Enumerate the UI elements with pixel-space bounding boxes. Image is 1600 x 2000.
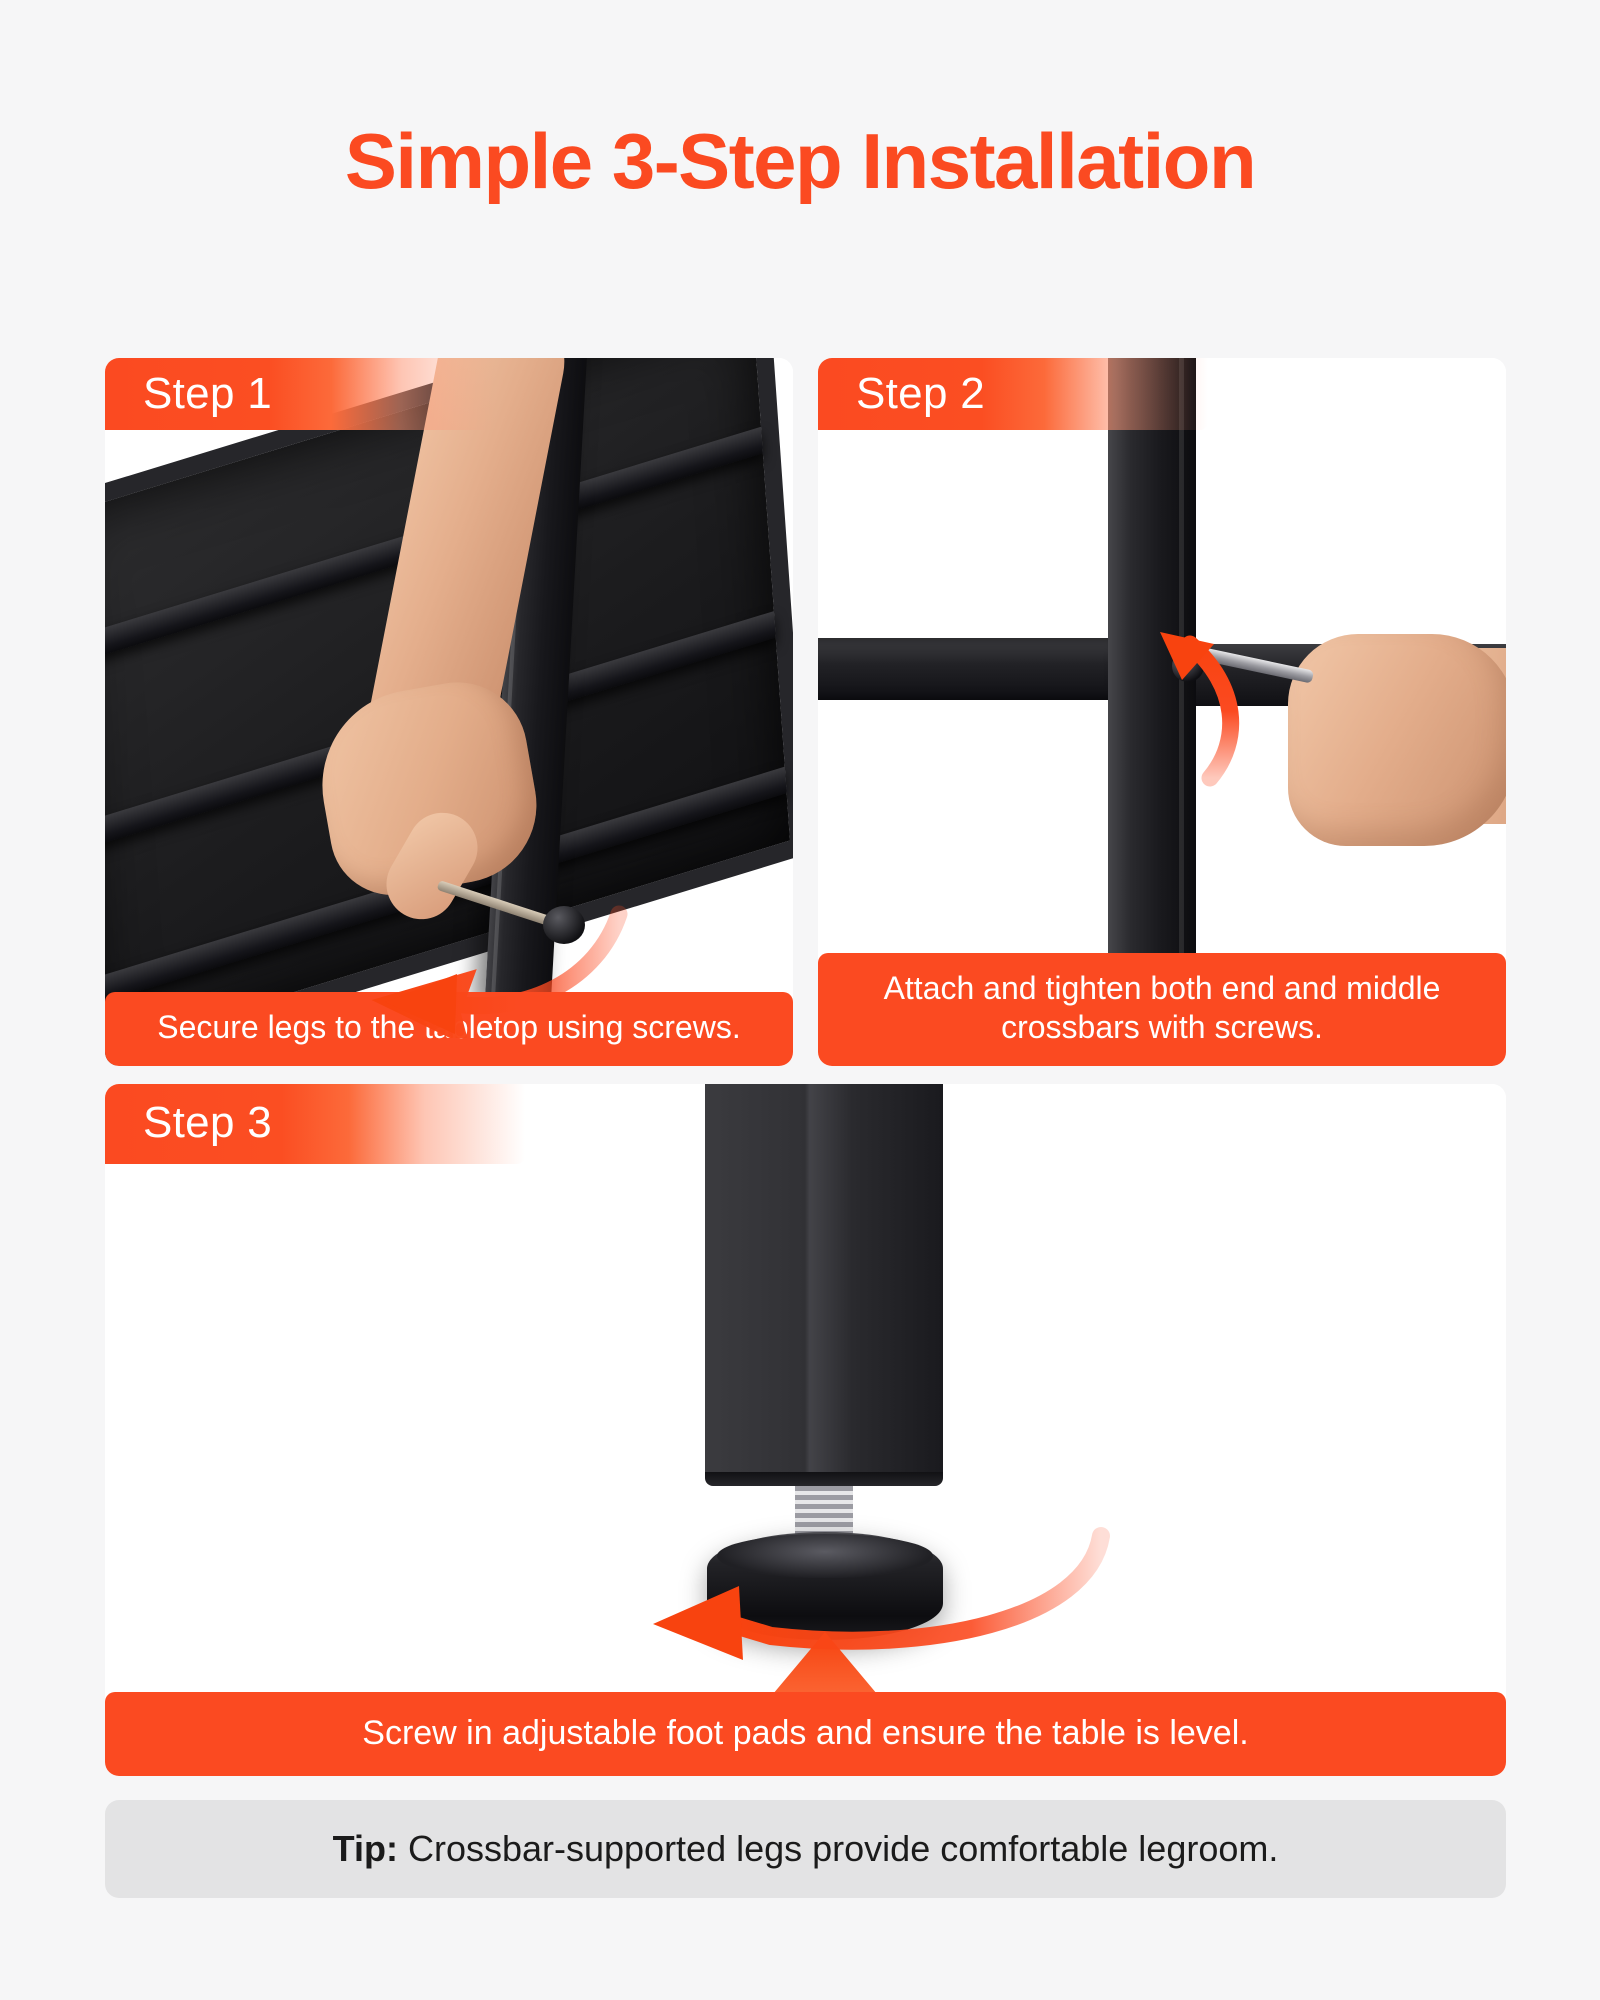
step-2-badge: Step 2: [818, 358, 1208, 430]
rotation-arrow-icon: [1118, 570, 1268, 790]
tip-label: Tip:: [333, 1828, 398, 1869]
step-3-badge: Step 3: [105, 1084, 525, 1164]
step-1-badge-label: Step 1: [143, 369, 272, 419]
step-3-photo: [105, 1084, 1506, 1776]
step-1-photo: [105, 358, 793, 1066]
step-2-caption: Attach and tighten both end and middle c…: [818, 953, 1506, 1066]
rotation-arrow-icon: [351, 878, 631, 1038]
step-1-badge: Step 1: [105, 358, 495, 430]
step-card-2: Step 2 Attach and tighten both end and m…: [818, 358, 1506, 1066]
tip-text: Tip: Crossbar-supported legs provide com…: [333, 1828, 1279, 1870]
tabletop-frame-illustration: [105, 358, 793, 1066]
hand: [1288, 634, 1506, 846]
step-card-1: Step 1 Secure legs to the tabletop using…: [105, 358, 793, 1066]
rotation-arrow-icon: [525, 1502, 1125, 1682]
tip-body: Crossbar-supported legs provide comforta…: [398, 1828, 1278, 1869]
crossbar-left: [818, 638, 1124, 700]
page-title: Simple 3-Step Installation: [0, 122, 1600, 200]
foot-pad-illustration: [105, 1084, 1506, 1776]
tip-bar: Tip: Crossbar-supported legs provide com…: [105, 1800, 1506, 1898]
step-3-caption: Screw in adjustable foot pads and ensure…: [105, 1692, 1506, 1776]
table-leg-bottom: [705, 1084, 943, 1482]
step-3-badge-label: Step 3: [143, 1098, 272, 1148]
step-2-badge-label: Step 2: [856, 369, 985, 419]
step-card-3: Step 3 Screw in adjustable foot pads and…: [105, 1084, 1506, 1776]
